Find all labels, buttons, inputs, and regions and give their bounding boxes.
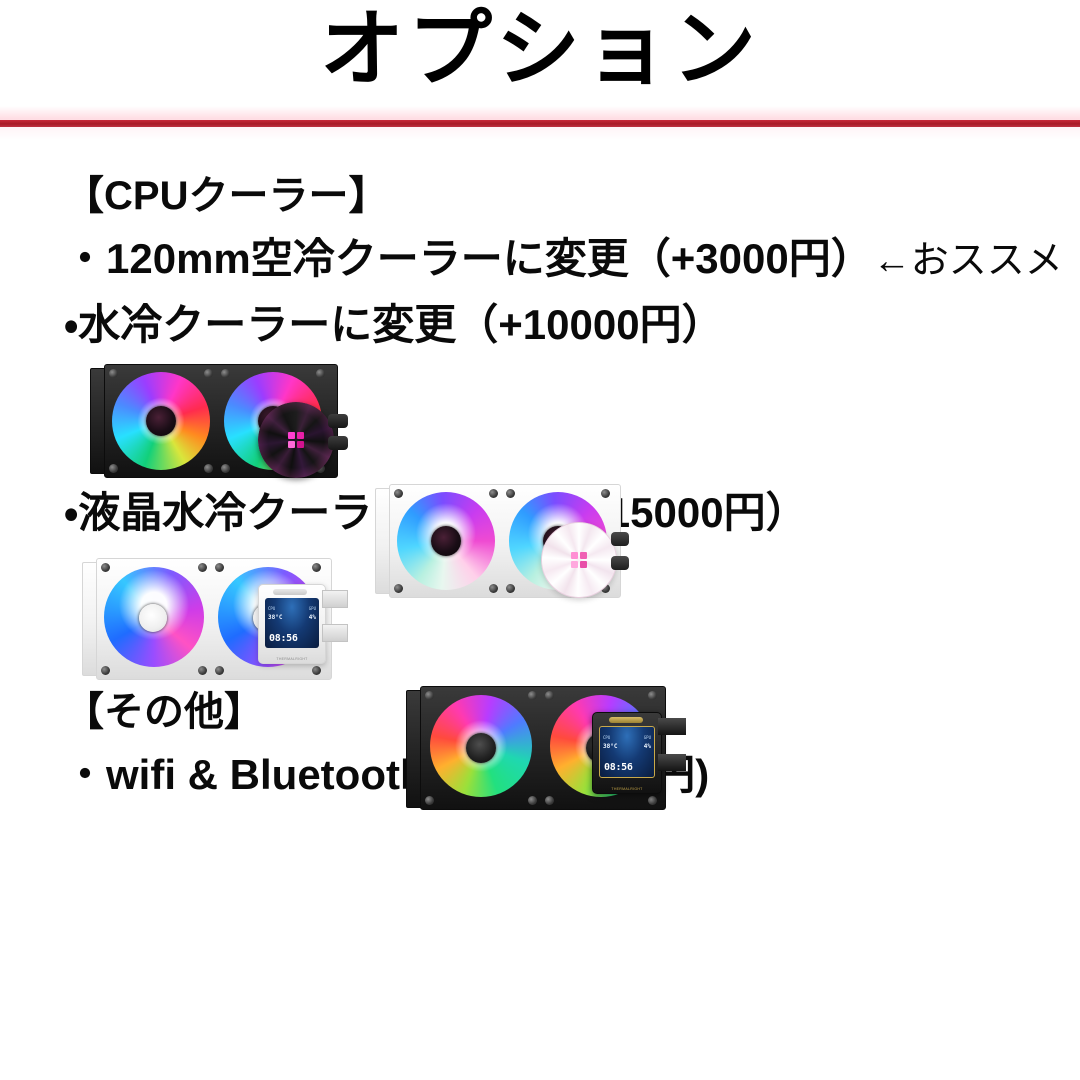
- screw-icon: [601, 489, 610, 498]
- screw-icon: [425, 796, 434, 805]
- rgb-fan: [105, 365, 217, 477]
- tube-fitting: [328, 414, 348, 428]
- screw-icon: [545, 796, 554, 805]
- lcd-stat-labels: CPU GPU: [268, 607, 316, 611]
- product-image-white-lcd-liquid-cooler: CPU GPU 38°C 4% 08:56 THERMALRIGHT: [82, 552, 350, 682]
- lcd-stat-values: 38°C 4%: [268, 615, 316, 621]
- screw-icon: [215, 666, 224, 675]
- liquid-cooler-image-row: [0, 362, 1080, 492]
- option-item-air-cooler-label: ・120mm空冷クーラーに変更（+3000円）: [64, 235, 873, 282]
- brand-text: THERMALRIGHT: [259, 657, 325, 661]
- screw-icon: [221, 369, 230, 378]
- tube-fitting: [611, 532, 629, 546]
- screw-icon: [506, 489, 515, 498]
- lcd-clock: 08:56: [269, 634, 298, 644]
- lcd-stat-values: 38°C 4%: [603, 744, 651, 750]
- screw-icon: [312, 563, 321, 572]
- screw-icon: [489, 489, 498, 498]
- fan-hub: [466, 733, 496, 763]
- lcd-screen: CPU GPU 38°C 4% 08:56: [265, 598, 319, 648]
- screw-icon: [312, 666, 321, 675]
- pump-head-lcd-white: CPU GPU 38°C 4% 08:56 THERMALRIGHT: [258, 584, 326, 664]
- lcd-gpu-label: GPU: [309, 607, 316, 611]
- screw-icon: [528, 796, 537, 805]
- pump-head-black: [258, 402, 334, 478]
- lcd-cpu-label: CPU: [603, 736, 610, 740]
- option-item-air-cooler: ・120mm空冷クーラーに変更（+3000円）←おススメ: [64, 238, 1054, 280]
- screw-icon: [545, 691, 554, 700]
- product-image-black-aio-liquid-cooler: [90, 362, 352, 482]
- rgb-fan: [421, 687, 541, 809]
- screw-icon: [204, 369, 213, 378]
- lcd-stat-labels: CPU GPU: [603, 736, 651, 740]
- screw-icon: [394, 489, 403, 498]
- tube-fitting: [322, 624, 348, 642]
- screw-icon: [221, 464, 230, 473]
- lcd-cpu-value: 38°C: [268, 615, 282, 621]
- tube-fitting: [322, 590, 348, 608]
- option-item-air-cooler-recommend: ←おススメ: [873, 240, 1063, 282]
- option-item-liquid-cooler-label: ・水冷クーラーに変更（+10000円）: [64, 301, 724, 348]
- screw-icon: [204, 464, 213, 473]
- product-image-black-lcd-liquid-cooler: CPU GPU 38°C 4% 08:56 THERMALRIGHT: [406, 682, 692, 812]
- screw-icon: [316, 369, 325, 378]
- title-divider: [0, 106, 1080, 140]
- screw-icon: [198, 563, 207, 572]
- brand-text: THERMALRIGHT: [593, 787, 661, 791]
- pump-head-lcd-black: CPU GPU 38°C 4% 08:56 THERMALRIGHT: [592, 712, 662, 794]
- screw-icon: [425, 691, 434, 700]
- lcd-clock: 08:56: [604, 763, 633, 773]
- tube-fitting: [328, 436, 348, 450]
- divider-line: [0, 120, 1080, 127]
- screw-icon: [215, 563, 224, 572]
- screw-icon: [109, 369, 118, 378]
- fan-hub: [146, 406, 176, 436]
- screw-icon: [109, 464, 118, 473]
- option-item-liquid-cooler: ・水冷クーラーに変更（+10000円）: [64, 304, 1054, 346]
- lcd-cpu-label: CPU: [268, 607, 275, 611]
- lcd-gpu-label: GPU: [644, 736, 651, 740]
- screw-icon: [528, 691, 537, 700]
- screw-icon: [648, 691, 657, 700]
- lcd-screen: CPU GPU 38°C 4% 08:56: [599, 726, 655, 778]
- rgb-fan: [97, 559, 211, 679]
- screw-icon: [101, 563, 110, 572]
- lcd-gpu-value: 4%: [309, 615, 316, 621]
- screw-icon: [101, 666, 110, 675]
- pump-top-bar: [273, 589, 307, 595]
- pump-top-bar: [609, 717, 643, 723]
- screw-icon: [648, 796, 657, 805]
- lcd-gpu-value: 4%: [644, 744, 651, 750]
- tube-fitting: [658, 754, 686, 771]
- page-title: オプション: [0, 2, 1080, 96]
- fan-hub: [139, 604, 167, 632]
- section-heading-cpu-cooler: 【CPUクーラー】: [64, 176, 1054, 216]
- screw-icon: [198, 666, 207, 675]
- brand-logo-icon: [288, 432, 304, 448]
- tube-fitting: [658, 718, 686, 735]
- lcd-cooler-image-row: CPU GPU 38°C 4% 08:56 THERMALRIGHT: [0, 552, 1080, 692]
- lcd-cpu-value: 38°C: [603, 744, 617, 750]
